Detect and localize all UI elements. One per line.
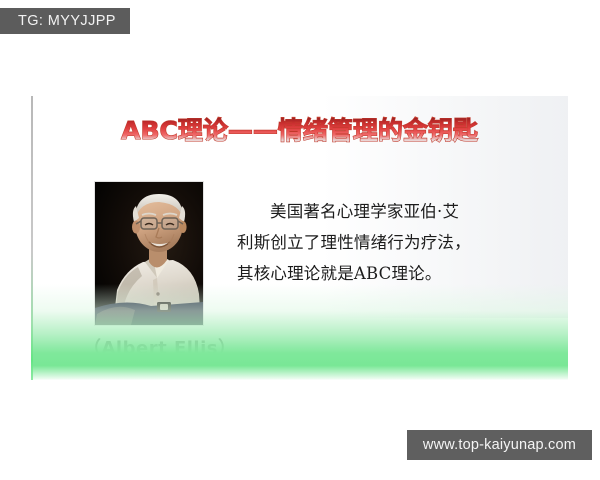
body-text-line-2: 利斯创立了理性情绪行为疗法， <box>237 227 529 258</box>
telegram-watermark-label: TG: MYYJJPP <box>18 13 116 29</box>
body-text-line-3: 其核心理论就是ABC理论。 <box>237 258 529 289</box>
site-watermark-badge: www.top-kaiyunap.com <box>407 430 592 460</box>
body-text-line-1: 美国著名心理学家亚伯·艾 <box>237 196 529 227</box>
portrait-image <box>95 182 203 325</box>
portrait-caption: （Albert Ellis） <box>83 334 236 360</box>
slide-title: ABC理论——情绪管理的金钥匙 <box>31 118 568 143</box>
telegram-watermark-badge: TG: MYYJJPP <box>0 8 130 34</box>
slide-body-text: 美国著名心理学家亚伯·艾 利斯创立了理性情绪行为疗法， 其核心理论就是ABC理论… <box>237 196 529 289</box>
site-watermark-label: www.top-kaiyunap.com <box>423 437 576 453</box>
presentation-slide: ABC理论——情绪管理的金钥匙 ABC理论——情绪管理的金钥匙 <box>31 96 568 380</box>
albert-ellis-portrait <box>95 182 203 325</box>
